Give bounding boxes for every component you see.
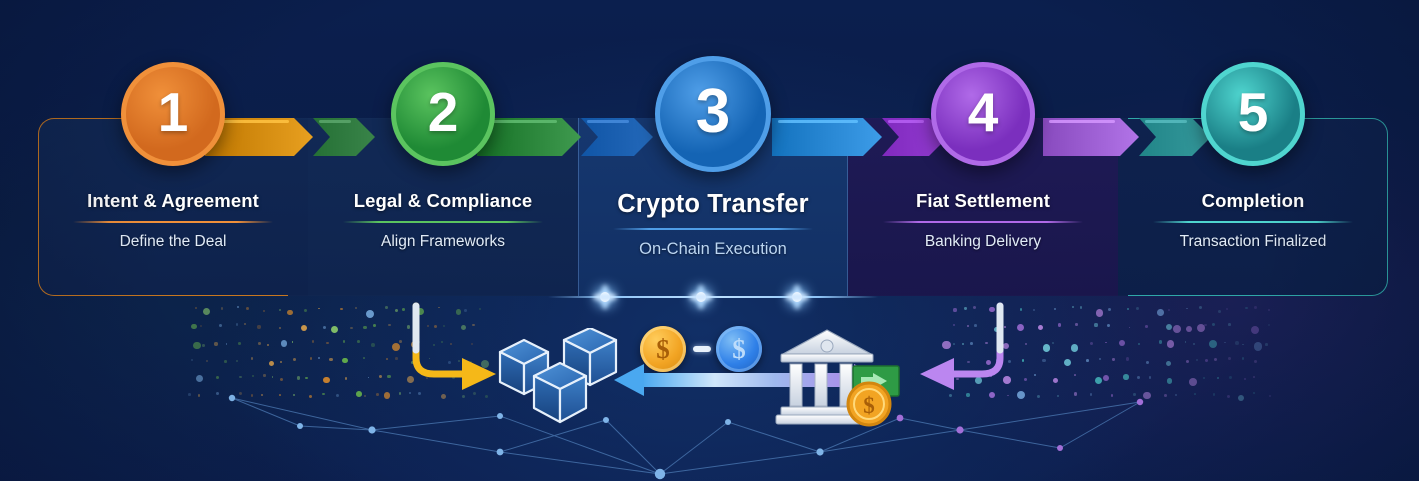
step-number-3: 3 (696, 81, 730, 143)
step-subtitle-2: Align Frameworks (381, 233, 505, 251)
chevron-arrow-blue (581, 118, 653, 156)
infographic-canvas: 1 Intent & Agreement Define the Deal 2 L… (0, 0, 1419, 481)
step-number-badge-5: 5 (1201, 62, 1305, 166)
step-number-5: 5 (1238, 85, 1269, 140)
step-title-2: Legal & Compliance (354, 190, 533, 212)
step-subtitle-3: On-Chain Execution (639, 240, 787, 259)
chevron-arrow-teal (1139, 118, 1211, 156)
network-mesh-graphic (0, 356, 1419, 481)
step-number-1: 1 (158, 85, 189, 140)
step-title-3: Crypto Transfer (617, 190, 808, 219)
step-subtitle-4: Banking Delivery (925, 233, 1041, 251)
chevron-arrow-blue-2 (772, 118, 882, 156)
chevron-arrow-purple-2 (1043, 118, 1139, 156)
connector-3-to-4 (772, 118, 948, 156)
step-title-4: Fiat Settlement (916, 190, 1050, 212)
step-number-4: 4 (968, 85, 999, 140)
step-number-2: 2 (428, 85, 459, 140)
coin-link-dash (693, 346, 711, 352)
connector-1-to-2 (205, 118, 375, 156)
step-rule-2 (343, 221, 543, 223)
illustration-area: $ $ (0, 296, 1419, 481)
chevron-arrow-green (313, 118, 375, 156)
step-number-badge-4: 4 (931, 62, 1035, 166)
step-rule-3 (613, 228, 813, 230)
step-rule-4 (883, 221, 1083, 223)
step-number-badge-1: 1 (121, 62, 225, 166)
connector-4-to-5 (1043, 118, 1211, 156)
step-number-badge-3: 3 (655, 56, 771, 172)
glow-divider-line (548, 296, 878, 298)
step-number-badge-2: 2 (391, 62, 495, 166)
connector-2-to-3 (477, 118, 653, 156)
